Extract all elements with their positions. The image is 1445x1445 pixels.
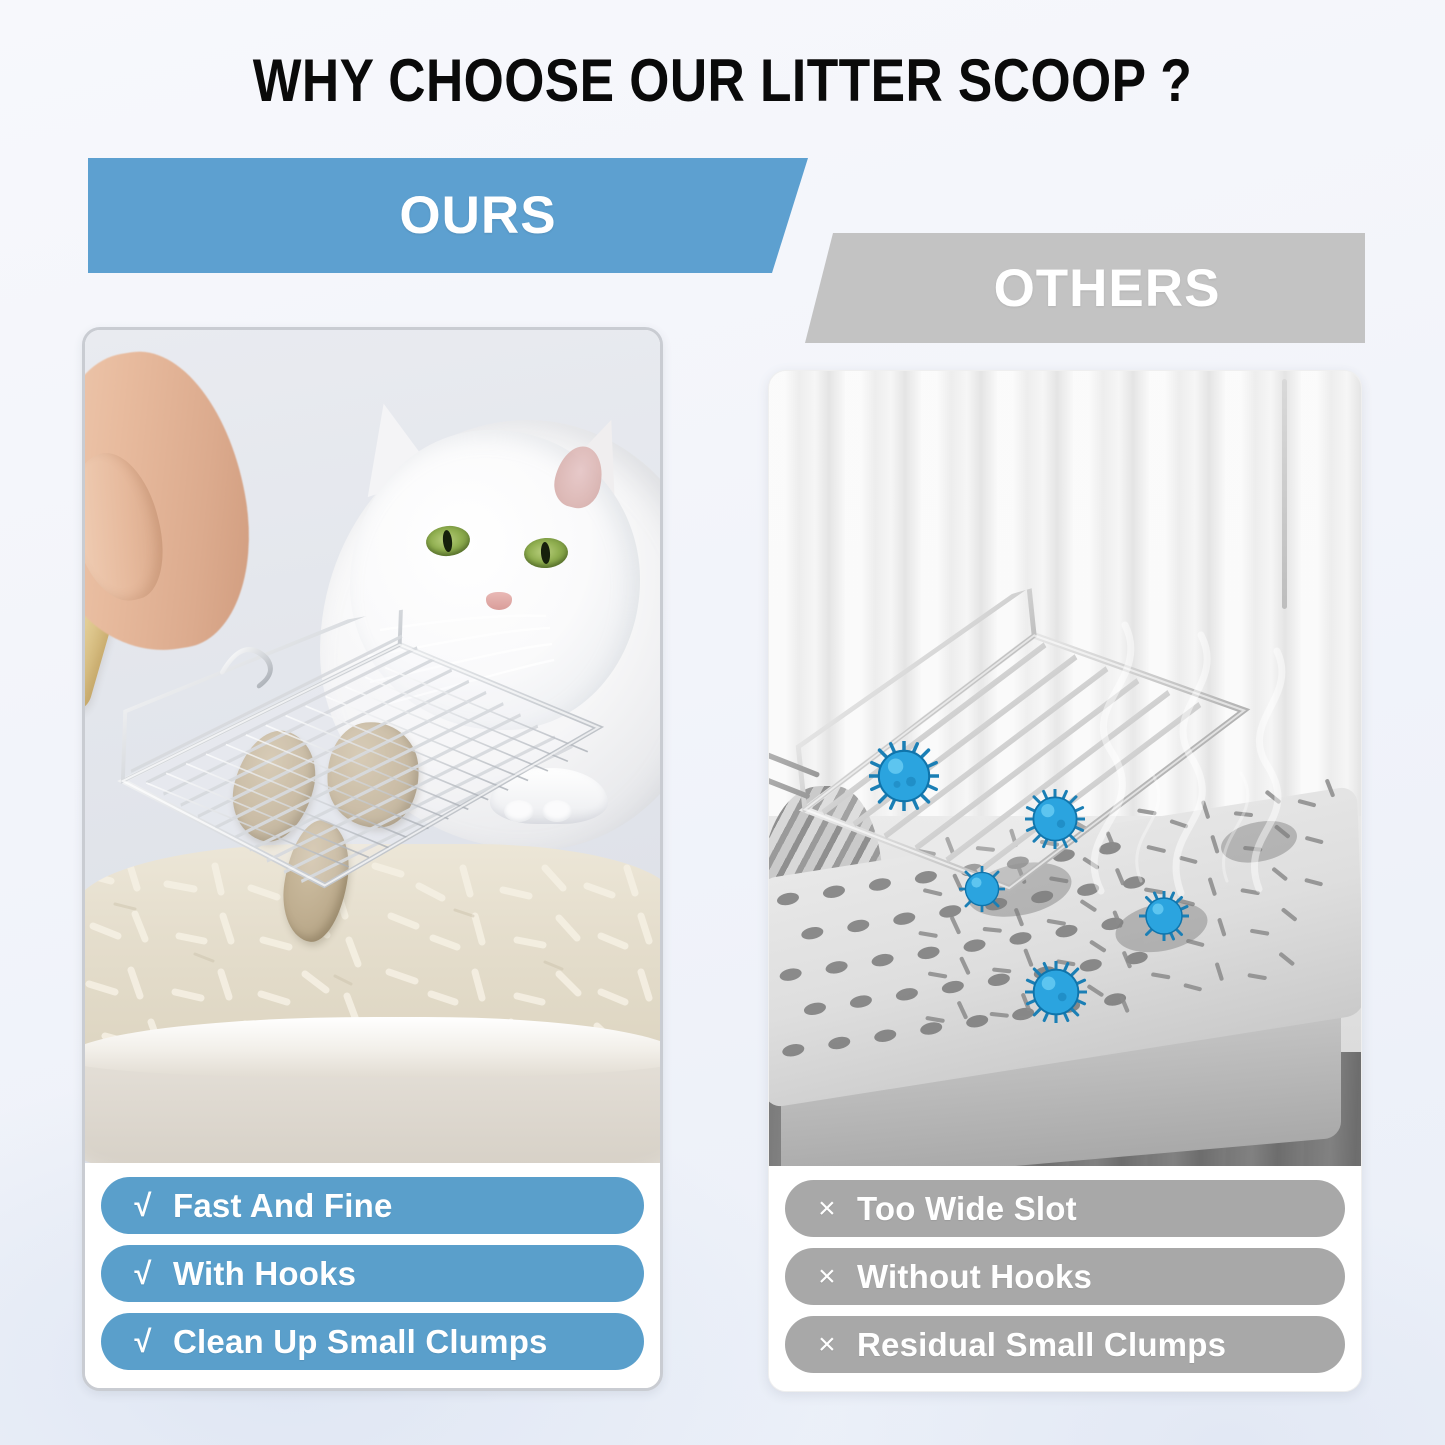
check-icon: √ [123, 1256, 163, 1292]
feature-label: Residual Small Clumps [857, 1326, 1226, 1364]
card-ours: √ Fast And Fine √ With Hooks √ Clean Up … [82, 327, 663, 1391]
features-ours: √ Fast And Fine √ With Hooks √ Clean Up … [85, 1163, 660, 1388]
feature-pill-others: × Too Wide Slot [785, 1180, 1345, 1237]
features-others: × Too Wide Slot × Without Hooks × Residu… [769, 1166, 1361, 1391]
banner-others-label: OTHERS [994, 258, 1221, 319]
germ-icon [869, 741, 939, 811]
banner-others: OTHERS [805, 233, 1365, 343]
feature-label: With Hooks [173, 1255, 356, 1293]
odor-smoke [1041, 581, 1341, 901]
feature-pill-ours: √ Clean Up Small Clumps [101, 1313, 644, 1370]
feature-pill-ours: √ Fast And Fine [101, 1177, 644, 1234]
curtain-rod [1282, 379, 1287, 609]
feature-pill-ours: √ With Hooks [101, 1245, 644, 1302]
check-icon: √ [123, 1324, 163, 1360]
feature-label: Too Wide Slot [857, 1190, 1077, 1228]
banner-ours-label: OURS [399, 185, 556, 246]
feature-label: Fast And Fine [173, 1187, 393, 1225]
cross-icon: × [807, 1328, 847, 1362]
page-title: WHY CHOOSE OUR LITTER SCOOP ? [101, 46, 1344, 115]
feature-label: Clean Up Small Clumps [173, 1323, 548, 1361]
germ-icon [1025, 789, 1085, 849]
germ-icon [1025, 961, 1087, 1023]
photo-others [769, 371, 1361, 1166]
banner-ours: OURS [88, 158, 808, 273]
germ-icon [959, 866, 1005, 912]
card-others: × Too Wide Slot × Without Hooks × Residu… [768, 370, 1362, 1392]
feature-label: Without Hooks [857, 1258, 1092, 1296]
germ-icon [1139, 891, 1189, 941]
check-icon: √ [123, 1188, 163, 1224]
photo-ours [85, 330, 660, 1163]
feature-pill-others: × Residual Small Clumps [785, 1316, 1345, 1373]
cross-icon: × [807, 1192, 847, 1226]
feature-pill-others: × Without Hooks [785, 1248, 1345, 1305]
cross-icon: × [807, 1260, 847, 1294]
